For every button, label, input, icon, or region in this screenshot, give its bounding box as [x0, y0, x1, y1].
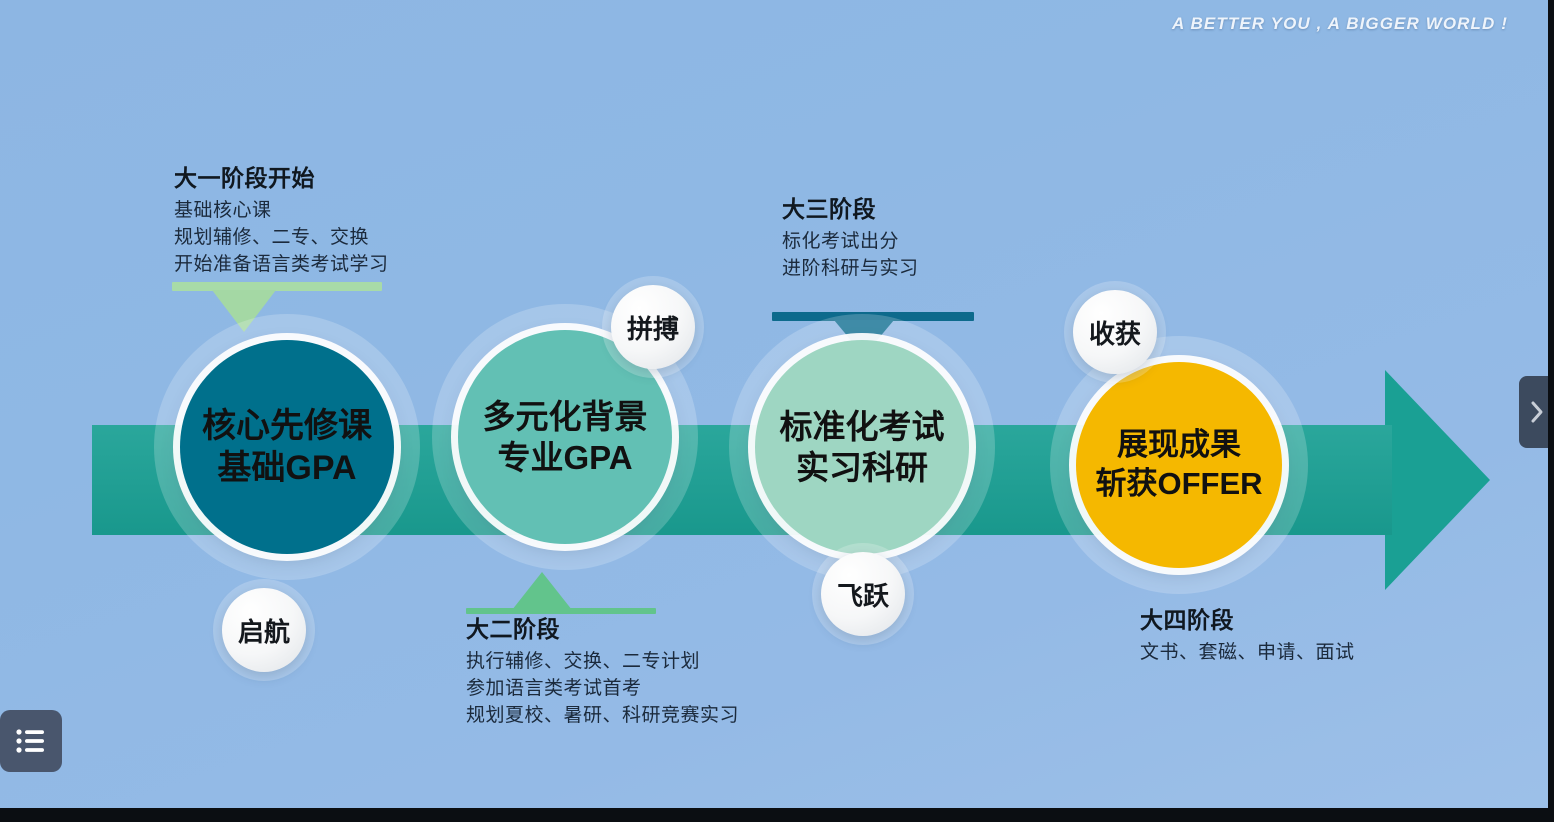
timeline-arrow-head	[1385, 370, 1490, 590]
stage-detail-line: 进阶科研与实习	[782, 256, 919, 283]
bubble-label: 飞跃	[837, 576, 889, 613]
stage-text-year-1: 大一阶段开始 基础核心课 规划辅修、二专、交换 开始准备语言类考试学习	[174, 162, 389, 279]
circle-label-line: 专业GPA	[497, 437, 632, 478]
bottom-letterbox-bar	[0, 808, 1554, 822]
stage-bubble-year-3[interactable]: 飞跃	[821, 552, 905, 636]
stage-text-year-3: 大三阶段 标化考试出分 进阶科研与实习	[782, 193, 919, 283]
circle-label-line: 多元化背景	[483, 396, 648, 437]
circle-label-line: 标准化考试	[780, 406, 945, 447]
stage-text-year-4: 大四阶段 文书、套磁、申请、面试	[1140, 604, 1355, 667]
pointer-triangle-up	[512, 572, 572, 610]
stage-detail-line: 开始准备语言类考试学习	[174, 252, 389, 279]
pointer-triangle-down	[212, 290, 276, 332]
stage-circle-year-1[interactable]: 核心先修课 基础GPA	[180, 340, 394, 554]
pointer-bar	[172, 282, 382, 291]
stage-detail-line: 规划夏校、暑研、科研竞赛实习	[466, 703, 739, 730]
slide-tagline: A BETTER YOU , A BIGGER WORLD !	[1172, 14, 1508, 34]
stage-bubble-year-2[interactable]: 拼搏	[611, 285, 695, 369]
stage-text-year-2: 大二阶段 执行辅修、交换、二专计划 参加语言类考试首考 规划夏校、暑研、科研竞赛…	[466, 613, 739, 730]
stage-title: 大三阶段	[782, 193, 919, 226]
bubble-label: 收获	[1089, 314, 1141, 351]
circle-label-line: 斩获OFFER	[1095, 465, 1262, 504]
stage-circle-year-3[interactable]: 标准化考试 实习科研	[755, 340, 969, 554]
stage-detail-line: 标化考试出分	[782, 229, 919, 256]
circle-label-line: 展现成果	[1117, 426, 1241, 465]
stage-detail-line: 执行辅修、交换、二专计划	[466, 649, 739, 676]
right-letterbox-bar	[1548, 0, 1554, 822]
list-menu-icon	[15, 728, 47, 754]
stage-detail-line: 文书、套磁、申请、面试	[1140, 640, 1355, 667]
bubble-label: 启航	[238, 612, 290, 649]
stage-detail-line: 参加语言类考试首考	[466, 676, 739, 703]
stage-title: 大四阶段	[1140, 604, 1355, 637]
stage-circle-year-4[interactable]: 展现成果 斩获OFFER	[1076, 362, 1282, 568]
stage-detail-line: 基础核心课	[174, 198, 389, 225]
stage-title: 大二阶段	[466, 613, 739, 646]
chevron-right-icon	[1529, 399, 1545, 425]
stage-bubble-year-1[interactable]: 启航	[222, 588, 306, 672]
stage-title: 大一阶段开始	[174, 162, 389, 195]
bubble-label: 拼搏	[627, 309, 679, 346]
menu-button[interactable]	[0, 710, 62, 772]
presentation-slide: A BETTER YOU , A BIGGER WORLD ! 大一阶段开始 基…	[0, 0, 1554, 822]
circle-label-line: 核心先修课	[202, 405, 372, 448]
stage-bubble-year-4[interactable]: 收获	[1073, 290, 1157, 374]
circle-label-line: 实习科研	[796, 447, 928, 488]
circle-label-line: 基础GPA	[217, 447, 356, 490]
stage-detail-line: 规划辅修、二专、交换	[174, 225, 389, 252]
